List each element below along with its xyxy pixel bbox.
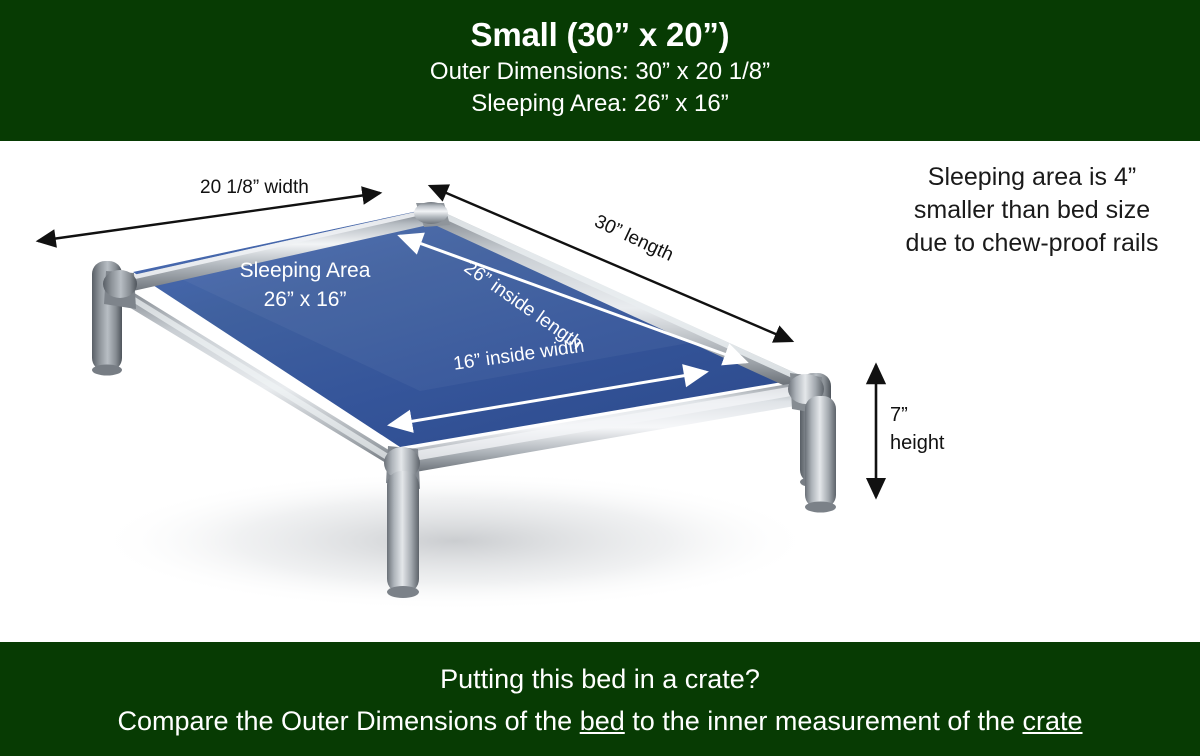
label-height-word: height [890, 429, 945, 457]
corner-joint-left [103, 270, 137, 309]
label-height-value: 7” [890, 401, 945, 429]
footer-instruction-part-2: to the inner measurement of the [625, 706, 1023, 736]
bed-leg-front-right [805, 396, 836, 513]
footer-band: Putting this bed in a crate? Compare the… [0, 642, 1200, 756]
illustration-area: Sleeping area is 4” smaller than bed siz… [0, 141, 1200, 642]
floor-shadow [95, 471, 815, 611]
label-sleeping-dims: 26” x 16” [205, 285, 405, 314]
chew-proof-note-line-3: due to chew-proof rails [872, 227, 1192, 260]
footer-instruction: Compare the Outer Dimensions of the bed … [0, 700, 1200, 742]
page-title: Small (30” x 20”) [0, 14, 1200, 56]
footer-instruction-part-1: Compare the Outer Dimensions of the [117, 706, 579, 736]
chew-proof-note: Sleeping area is 4” smaller than bed siz… [872, 161, 1192, 260]
header-sleeping-area: Sleeping Area: 26” x 16” [0, 88, 1200, 120]
dog-bed-size-diagram: Small (30” x 20”) Outer Dimensions: 30” … [0, 0, 1200, 756]
label-height: 7” height [890, 401, 945, 457]
footer-word-crate: crate [1022, 706, 1082, 736]
label-outer-width: 20 1/8” width [200, 177, 309, 199]
label-sleeping-area: Sleeping Area 26” x 16” [205, 256, 405, 314]
header-band: Small (30” x 20”) Outer Dimensions: 30” … [0, 0, 1200, 141]
chew-proof-note-line-1: Sleeping area is 4” [872, 161, 1192, 194]
footer-question: Putting this bed in a crate? [0, 658, 1200, 700]
header-outer-dimensions: Outer Dimensions: 30” x 20 1/8” [0, 56, 1200, 88]
footer-word-bed: bed [580, 706, 625, 736]
chew-proof-note-line-2: smaller than bed size [872, 194, 1192, 227]
label-sleeping-title: Sleeping Area [205, 256, 405, 285]
bed-leg-front-left [387, 471, 419, 598]
